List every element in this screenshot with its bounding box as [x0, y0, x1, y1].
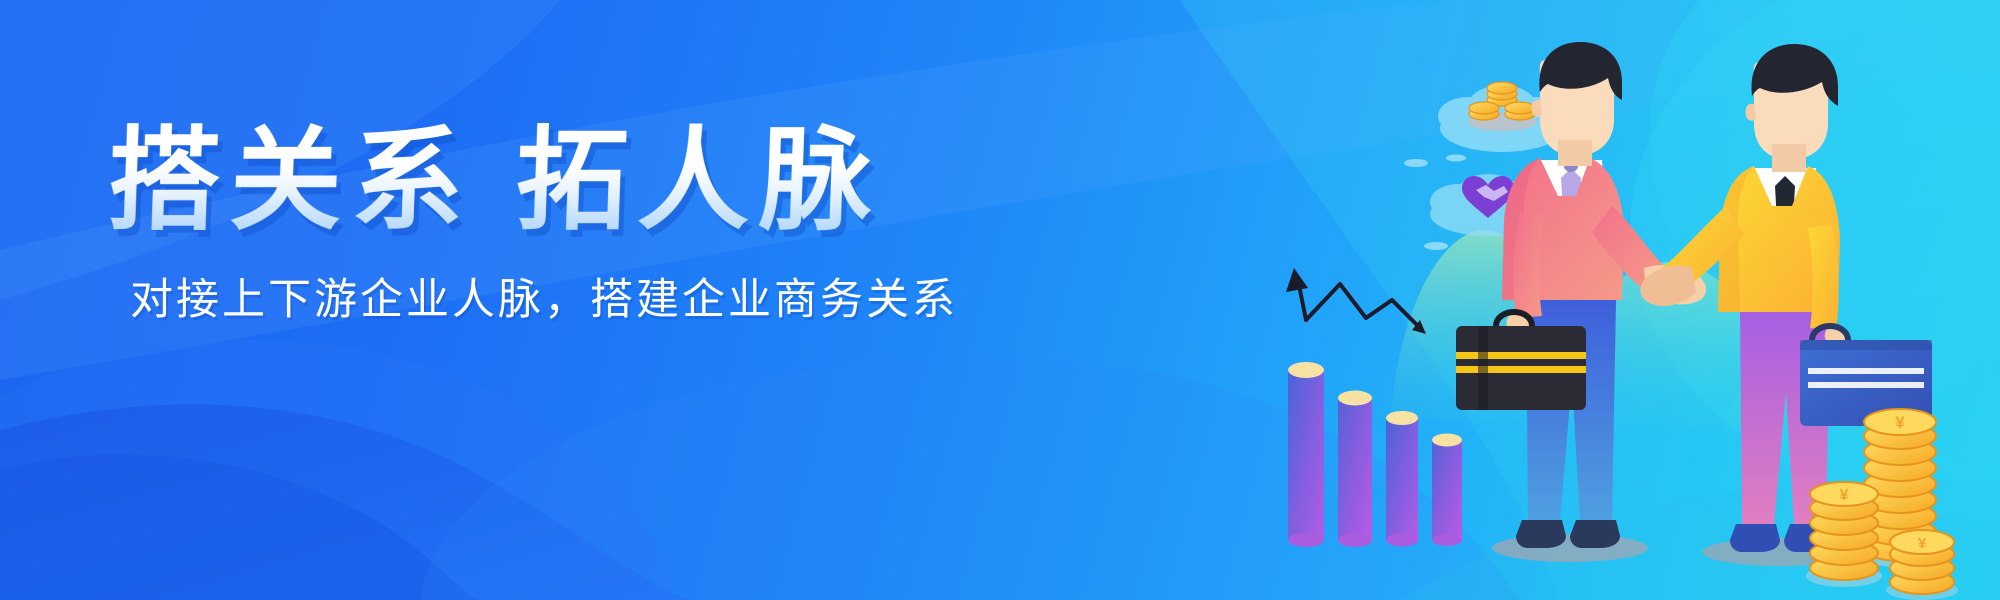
neck: [1558, 140, 1592, 166]
cylinder-bar: [1338, 391, 1372, 548]
svg-text:¥: ¥: [1918, 535, 1927, 552]
shoe: [1730, 524, 1780, 552]
shoe: [1516, 520, 1566, 548]
promo-banner: 搭关系拓人脉 对接上下游企业人脉，搭建企业商务关系: [0, 0, 2000, 600]
headline-part-2: 拓人脉: [514, 118, 884, 243]
briefcase-black: [1456, 312, 1586, 410]
cylinder-bar: [1386, 411, 1418, 547]
page-title: 搭关系拓人脉: [106, 118, 1200, 243]
coin-stack: ¥: [1806, 482, 1882, 587]
cylinder-bar: [1288, 362, 1324, 547]
neck: [1772, 144, 1806, 172]
svg-text:¥: ¥: [1895, 413, 1905, 432]
wave-circle-bottom-left: [0, 340, 680, 600]
illustration-svg: ¥ ¥: [1240, 0, 2000, 600]
text-content: 搭关系拓人脉 对接上下游企业人脉，搭建企业商务关系: [108, 118, 1198, 327]
page-subtitle: 对接上下游企业人脉，搭建企业商务关系: [130, 265, 1198, 327]
trend-arrow-icon: [1298, 280, 1422, 330]
wave-dark-bottom-left: [0, 404, 700, 600]
svg-text:¥: ¥: [1840, 487, 1849, 504]
illustration: ¥ ¥: [1240, 0, 2000, 600]
trend-arrow-head: [1286, 268, 1308, 292]
coin-stack: ¥: [1886, 530, 1958, 600]
ground-ellipse: [1492, 534, 1648, 562]
wave-dark-bottom-left-2: [0, 454, 480, 600]
cylinder-bar: [1432, 434, 1462, 547]
shoe: [1570, 520, 1620, 548]
businessman-right: [1640, 44, 1847, 552]
headline-part-1: 搭关系: [106, 118, 476, 243]
